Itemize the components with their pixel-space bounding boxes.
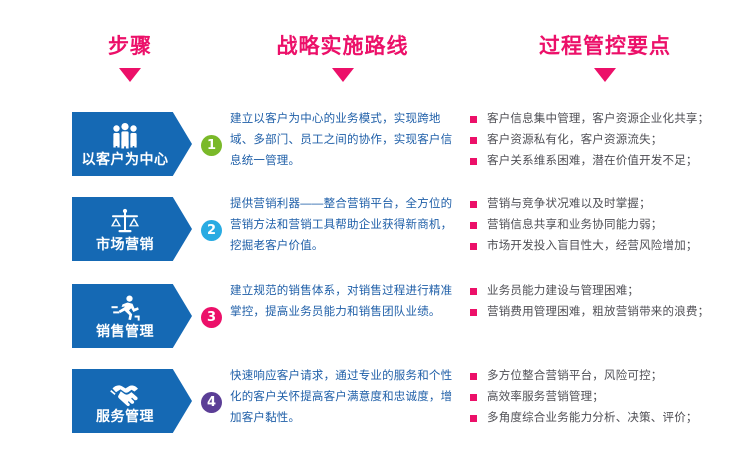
header-column-control: 过程管控要点	[470, 34, 740, 82]
step-number-badge: 2	[201, 220, 222, 241]
header-column-strategy: 战略实施路线	[230, 34, 455, 82]
header-column-steps: 步骤	[60, 34, 200, 82]
list-item: 营销费用管理困难，粗放营销带来的浪费；	[470, 302, 745, 323]
stage-label: 服务管理	[96, 408, 154, 424]
control-points-list: 营销与竞争状况难以及时掌握； 营销信息共享和业务协同能力弱； 市场开发投入盲目性…	[470, 194, 745, 257]
list-item: 多角度综合业务能力分析、决策、评价；	[470, 408, 745, 429]
handshake-icon	[108, 379, 142, 407]
stage-tag-marketing[interactable]: 市场营销	[72, 197, 192, 261]
stage-tag-service[interactable]: 服务管理	[72, 369, 192, 433]
header-title-control: 过程管控要点	[470, 34, 740, 60]
column-headers: 步骤 战略实施路线 过程管控要点	[0, 0, 750, 100]
list-item: 市场开发投入盲目性大，经营风险增加；	[470, 236, 745, 257]
stage-description: 快速响应客户请求，通过专业的服务和个性化的客户关怀提高客户满意度和忠诚度，增加客…	[230, 366, 462, 429]
control-points-list: 多方位整合营销平台，风险可控； 高效率服务营销管理； 多角度综合业务能力分析、决…	[470, 366, 745, 429]
list-item: 客户信息集中管理，客户资源企业化共享；	[470, 109, 745, 130]
caret-down-icon	[119, 68, 141, 82]
list-item: 客户资源私有化，客户资源流失；	[470, 130, 745, 151]
running-person-icon	[108, 294, 142, 322]
stage-tag-sales[interactable]: 销售管理	[72, 284, 192, 348]
list-item: 高效率服务营销管理；	[470, 387, 745, 408]
step-number-badge: 3	[201, 307, 222, 328]
stage-label: 市场营销	[96, 236, 154, 252]
balance-scale-icon	[108, 207, 142, 235]
step-number-badge: 1	[201, 135, 222, 156]
step-number-badge: 4	[201, 392, 222, 413]
stage-description: 建立规范的销售体系，对销售过程进行精准掌控，提高业务员能力和销售团队业绩。	[230, 281, 462, 323]
list-item: 营销信息共享和业务协同能力弱；	[470, 215, 745, 236]
stage-description: 建立以客户为中心的业务模式，实现跨地域、多部门、员工之间的协作，实现客户信息统一…	[230, 109, 462, 172]
people-group-icon	[108, 122, 142, 150]
list-item: 客户关系维系困难，潜在价值开发不足；	[470, 151, 745, 172]
process-row: 市场营销 2 提供营销利器——整合营销平台，全方位的营销方法和营销工具帮助企业获…	[0, 188, 750, 273]
caret-down-icon	[332, 68, 354, 82]
process-row: 销售管理 3 建立规范的销售体系，对销售过程进行精准掌控，提高业务员能力和销售团…	[0, 275, 750, 360]
list-item: 营销与竞争状况难以及时掌握；	[470, 194, 745, 215]
process-row: 服务管理 4 快速响应客户请求，通过专业的服务和个性化的客户关怀提高客户满意度和…	[0, 360, 750, 445]
stage-label: 销售管理	[96, 323, 154, 339]
stage-description: 提供营销利器——整合营销平台，全方位的营销方法和营销工具帮助企业获得新商机，挖掘…	[230, 194, 462, 257]
process-row: 以客户为中心 1 建立以客户为中心的业务模式，实现跨地域、多部门、员工之间的协作…	[0, 103, 750, 188]
list-item: 多方位整合营销平台，风险可控；	[470, 366, 745, 387]
stage-tag-customer-center[interactable]: 以客户为中心	[72, 112, 192, 176]
control-points-list: 业务员能力建设与管理困难； 营销费用管理困难，粗放营销带来的浪费；	[470, 281, 745, 323]
header-title-steps: 步骤	[60, 34, 200, 60]
caret-down-icon	[594, 68, 616, 82]
list-item: 业务员能力建设与管理困难；	[470, 281, 745, 302]
header-title-strategy: 战略实施路线	[230, 34, 455, 60]
stage-label: 以客户为中心	[82, 151, 169, 167]
control-points-list: 客户信息集中管理，客户资源企业化共享； 客户资源私有化，客户资源流失； 客户关系…	[470, 109, 745, 172]
